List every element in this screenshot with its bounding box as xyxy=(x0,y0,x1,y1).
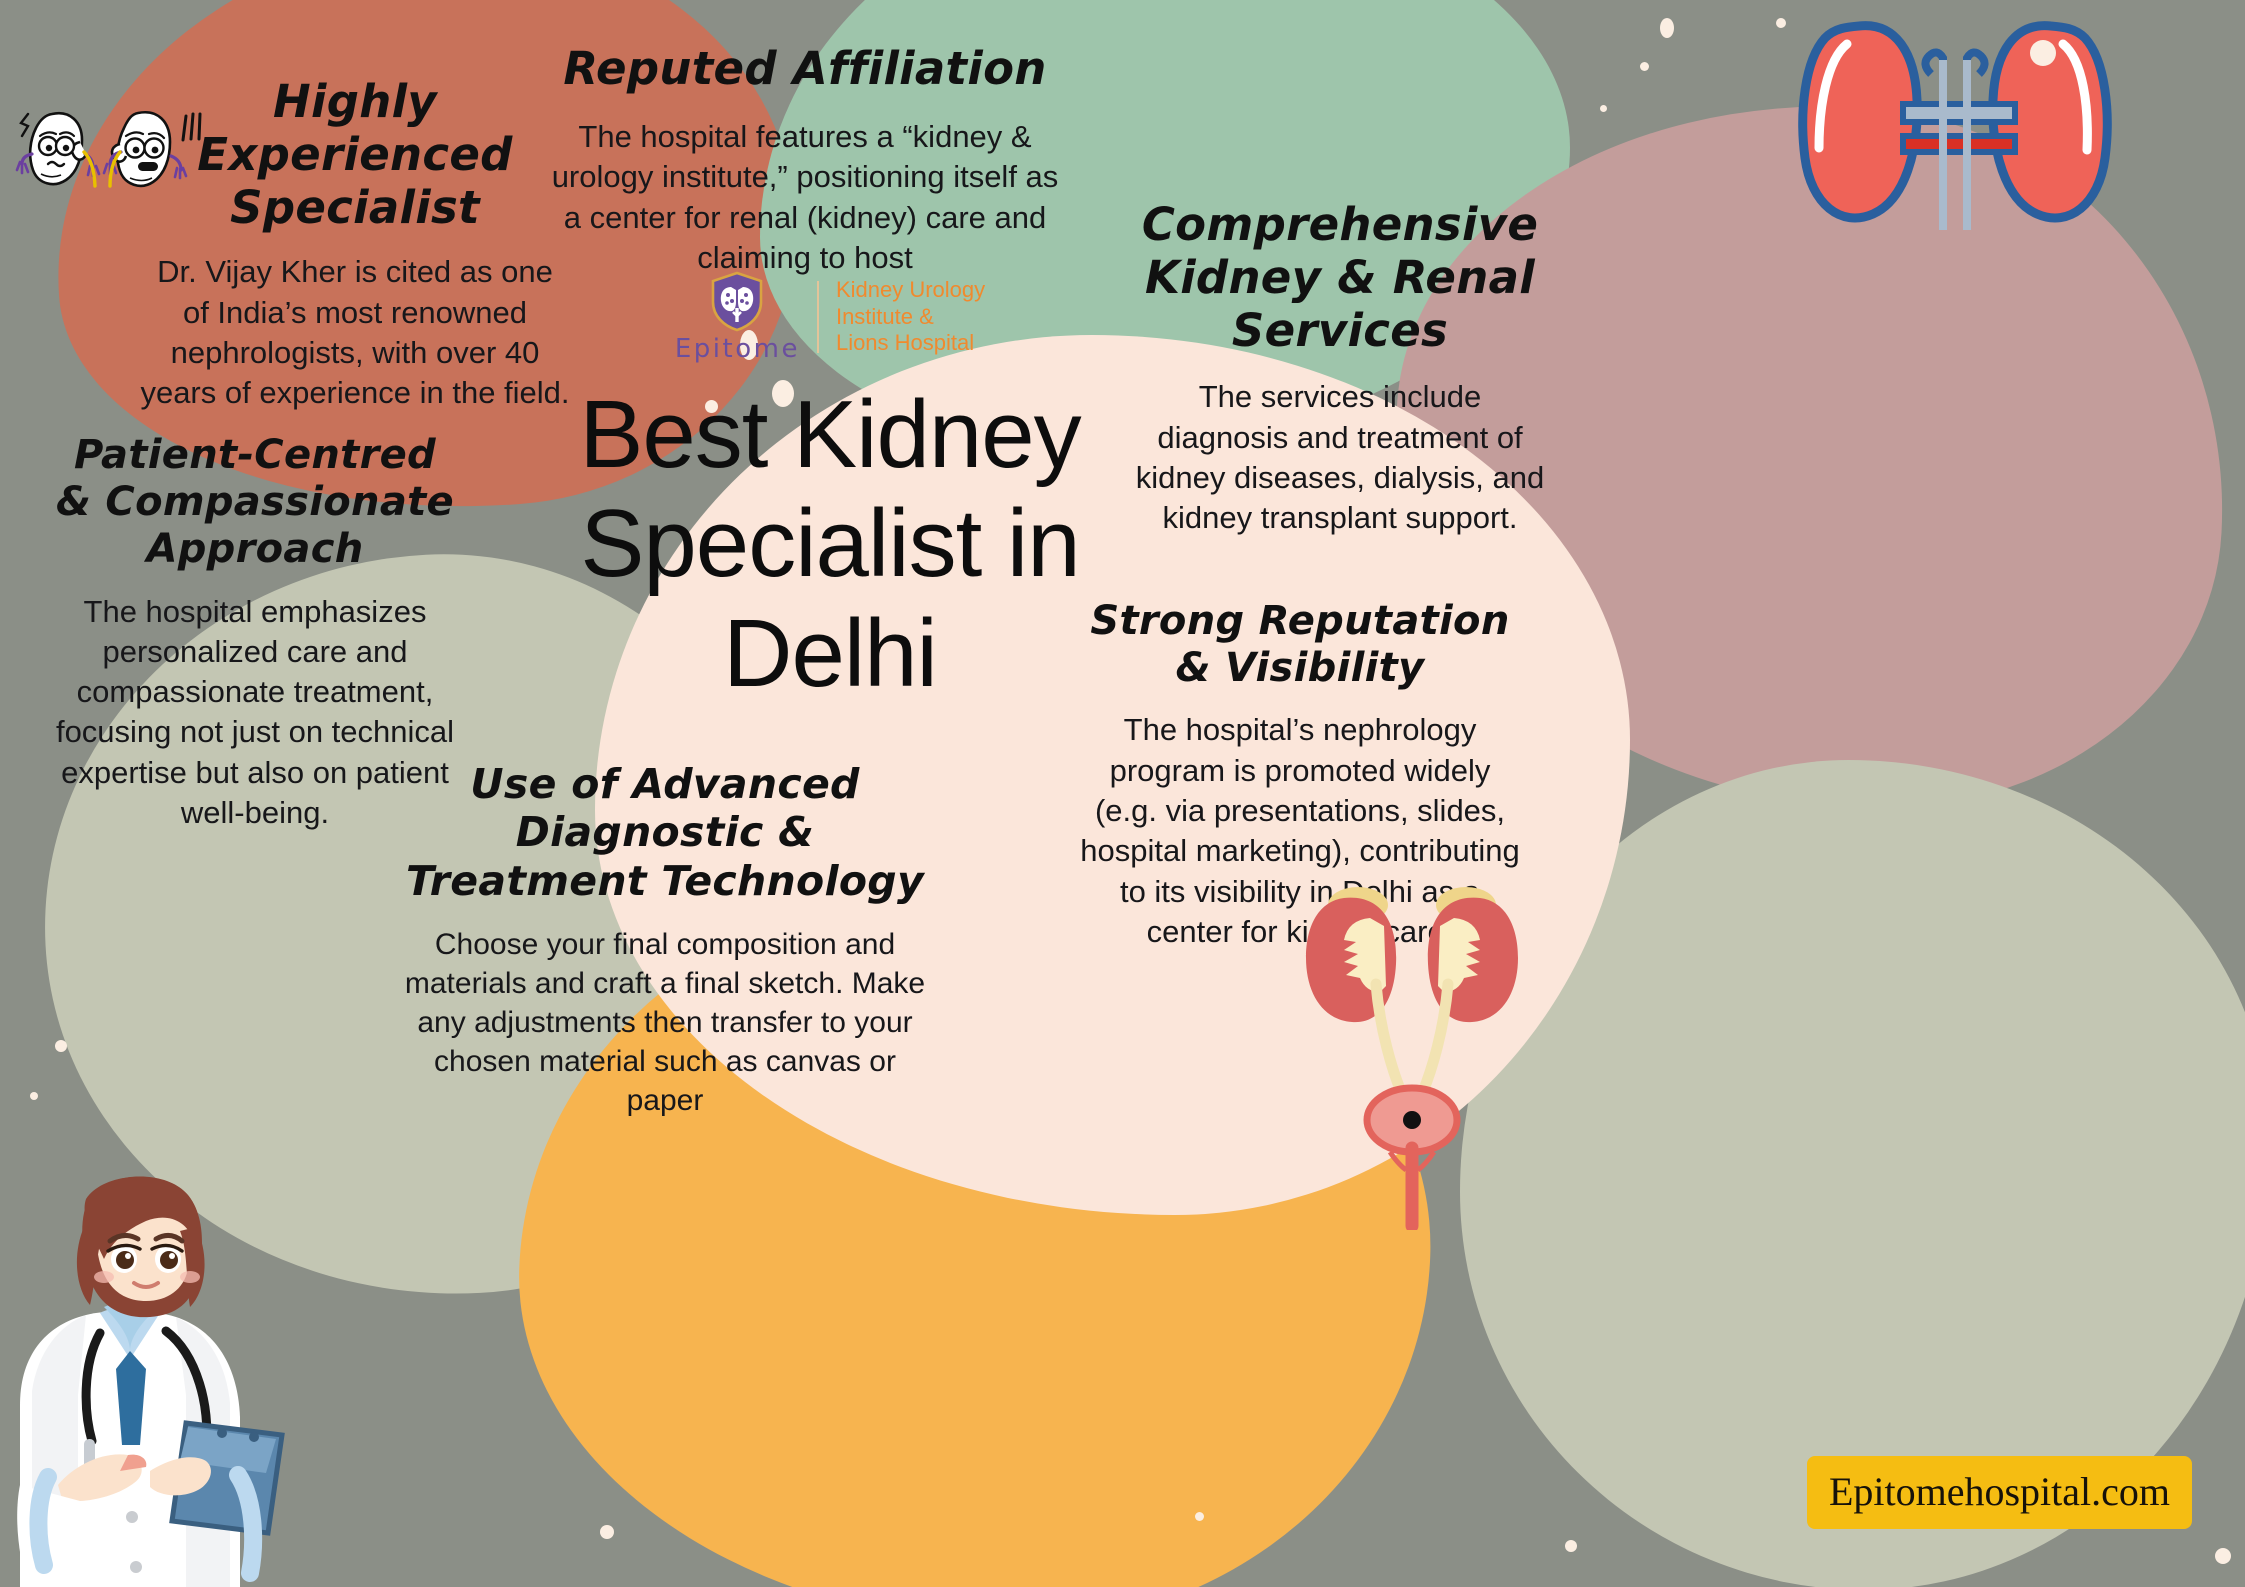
logo-subtitle-line-2: Institute & xyxy=(836,304,985,331)
panel-title: Comprehensive Kidney & Renal Services xyxy=(1130,198,1550,357)
panel-body: The hospital features a “kidney & urolog… xyxy=(545,117,1065,278)
panel-comprehensive-kidney-renal-services: Comprehensive Kidney & Renal Services Th… xyxy=(1130,198,1550,538)
panel-patient-centred-compassionate-approach: Patient-Centred & Compassionate Approach… xyxy=(55,432,455,833)
speckle xyxy=(1565,1540,1577,1552)
speckle xyxy=(600,1525,614,1539)
panel-title: Reputed Affiliation xyxy=(545,42,1065,95)
panel-title: Patient-Centred & Compassionate Approach xyxy=(55,432,455,574)
infographic-canvas: Highly Experienced Specialist Dr. Vijay … xyxy=(0,0,2245,1587)
speckle xyxy=(55,1040,67,1052)
panel-body: The services include diagnosis and treat… xyxy=(1130,377,1550,538)
logo-subtitle: Kidney Urology Institute & Lions Hospita… xyxy=(836,277,985,357)
panel-advanced-diagnostic-treatment-technology: Use of Advanced Diagnostic & Treatment T… xyxy=(400,760,930,1120)
hero-block: Epitome Kidney Urology Institute & Lions… xyxy=(520,270,1140,708)
cartoon-kidney-characters-icon xyxy=(8,100,203,225)
logo-subtitle-line-3: Lions Hospital xyxy=(836,330,985,357)
kidney-shield-icon xyxy=(708,270,766,332)
speckle xyxy=(1640,62,1649,71)
logo-mark: Epitome xyxy=(675,270,800,364)
panel-body: The hospital emphasizes personalized car… xyxy=(55,592,455,834)
logo-subtitle-line-1: Kidney Urology xyxy=(836,277,985,304)
speckle xyxy=(1600,105,1607,112)
panel-title: Use of Advanced Diagnostic & Treatment T… xyxy=(400,760,930,905)
speckle xyxy=(30,1092,38,1100)
speckle xyxy=(1660,18,1674,38)
female-doctor-illustration xyxy=(0,1155,330,1587)
logo-divider xyxy=(817,281,819,353)
speckle xyxy=(1195,1512,1204,1521)
website-url: Epitomehospital.com xyxy=(1829,1469,2170,1514)
panel-reputed-affiliation: Reputed Affiliation The hospital feature… xyxy=(545,42,1065,278)
kidney-anatomy-flat-icon xyxy=(1755,0,2155,230)
website-badge[interactable]: Epitomehospital.com xyxy=(1807,1456,2192,1529)
panel-body: Dr. Vijay Kher is cited as one of India’… xyxy=(140,252,570,413)
panel-highly-experienced-specialist: Highly Experienced Specialist Dr. Vijay … xyxy=(140,75,570,413)
urinary-system-icon xyxy=(1270,880,1550,1230)
page-title: Best Kidney Specialist in Delhi xyxy=(520,380,1140,708)
panel-body: Choose your final composition and materi… xyxy=(400,925,930,1120)
panel-title: Strong Reputation & Visibility xyxy=(1080,598,1520,692)
brand-logo: Epitome Kidney Urology Institute & Lions… xyxy=(520,270,1140,364)
speckle xyxy=(2215,1548,2231,1564)
logo-wordmark: Epitome xyxy=(675,334,800,364)
panel-title: Highly Experienced Specialist xyxy=(140,75,570,234)
